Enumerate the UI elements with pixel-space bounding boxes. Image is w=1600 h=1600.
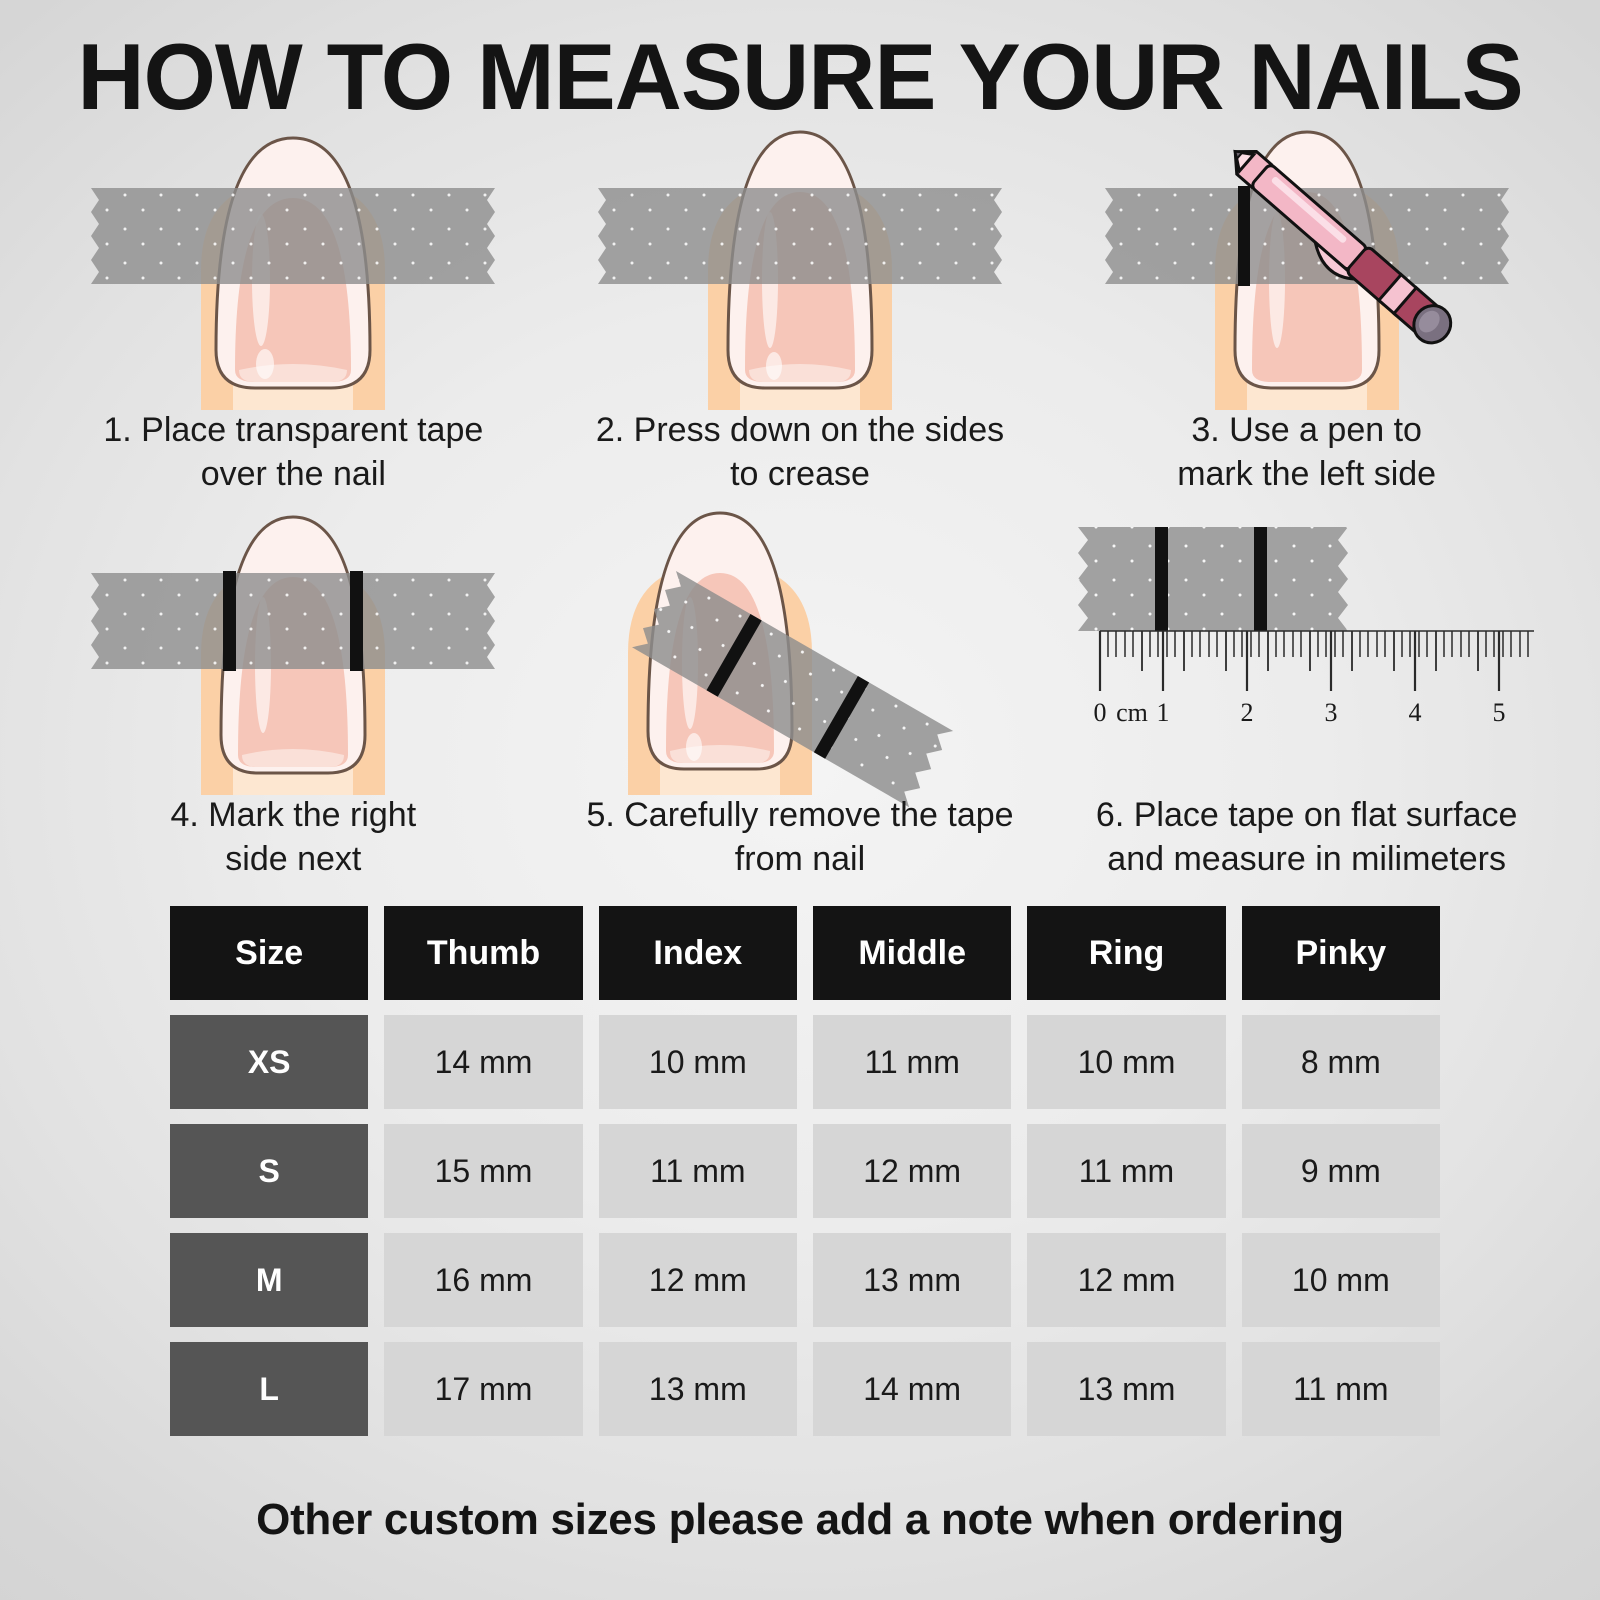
- left-mark: [1238, 186, 1250, 286]
- step-2-illustration: [547, 120, 1054, 410]
- table-cell: 13 mm: [813, 1233, 1011, 1327]
- table-header-thumb: Thumb: [384, 906, 582, 1000]
- tape-1: [91, 188, 495, 284]
- table-cell: 9 mm: [1242, 1124, 1440, 1218]
- table-row-size-label: XS: [170, 1015, 368, 1109]
- step-6-illustration: 0 cm 1 2 3 4 5: [1053, 505, 1560, 795]
- table-cell: 14 mm: [813, 1342, 1011, 1436]
- step-3-illustration: [1053, 120, 1560, 410]
- ruler-label-5: 5: [1492, 698, 1505, 727]
- table-cell: 12 mm: [813, 1124, 1011, 1218]
- table-header-size: Size: [170, 906, 368, 1000]
- step-2-caption: 2. Press down on the sidesto crease: [547, 408, 1054, 496]
- ruler-label-1: 1: [1156, 698, 1169, 727]
- table-cell: 14 mm: [384, 1015, 582, 1109]
- table-cell: 13 mm: [1027, 1342, 1225, 1436]
- table-row-size-label: S: [170, 1124, 368, 1218]
- step-5-caption: 5. Carefully remove the tapefrom nail: [547, 793, 1054, 881]
- table-cell: 16 mm: [384, 1233, 582, 1327]
- step-1-illustration: [40, 120, 547, 410]
- table-cell: 13 mm: [599, 1342, 797, 1436]
- ruler-label-4: 4: [1408, 698, 1421, 727]
- ruler-label-0: 0: [1093, 698, 1106, 727]
- step-3-caption: 3. Use a pen tomark the left side: [1053, 408, 1560, 496]
- step-5-illustration: [547, 505, 1054, 795]
- ruler-label-3: 3: [1324, 698, 1337, 727]
- table-header-index: Index: [599, 906, 797, 1000]
- table-cell: 17 mm: [384, 1342, 582, 1436]
- size-chart-table: Size Thumb Index Middle Ring Pinky XS 14…: [170, 906, 1440, 1436]
- ruler-icon: [1100, 631, 1534, 691]
- ruler-label-2: 2: [1240, 698, 1253, 727]
- table-cell: 10 mm: [599, 1015, 797, 1109]
- step-6: 0 cm 1 2 3 4 5 6. Place tape on flat sur…: [1053, 505, 1560, 890]
- steps-grid: 1. Place transparent tapeover the nail: [40, 120, 1560, 890]
- tape-4: [91, 573, 495, 669]
- step-4: 4. Mark the rightside next: [40, 505, 547, 890]
- table-cell: 10 mm: [1027, 1015, 1225, 1109]
- tape-6: [1078, 527, 1348, 631]
- table-row-size-label: M: [170, 1233, 368, 1327]
- left-mark: [1155, 527, 1168, 631]
- tape-2: [598, 188, 1002, 284]
- table-cell: 15 mm: [384, 1124, 582, 1218]
- step-2: 2. Press down on the sidesto crease: [547, 120, 1054, 505]
- ruler-label-cm: cm: [1116, 698, 1148, 727]
- table-cell: 11 mm: [599, 1124, 797, 1218]
- step-1-caption: 1. Place transparent tapeover the nail: [40, 408, 547, 496]
- step-1: 1. Place transparent tapeover the nail: [40, 120, 547, 505]
- table-row-size-label: L: [170, 1342, 368, 1436]
- step-4-caption: 4. Mark the rightside next: [40, 793, 547, 881]
- left-mark: [223, 571, 236, 671]
- page-title: HOW TO MEASURE YOUR NAILS: [8, 30, 1592, 124]
- right-mark: [350, 571, 363, 671]
- step-4-illustration: [40, 505, 547, 795]
- table-cell: 11 mm: [813, 1015, 1011, 1109]
- table-cell: 8 mm: [1242, 1015, 1440, 1109]
- right-mark: [1254, 527, 1267, 631]
- table-cell: 11 mm: [1027, 1124, 1225, 1218]
- table-header-ring: Ring: [1027, 906, 1225, 1000]
- table-cell: 12 mm: [599, 1233, 797, 1327]
- step-6-caption: 6. Place tape on flat surfaceand measure…: [1053, 793, 1560, 881]
- footnote-text: Other custom sizes please add a note whe…: [0, 1495, 1600, 1545]
- step-5: 5. Carefully remove the tapefrom nail: [547, 505, 1054, 890]
- table-cell: 10 mm: [1242, 1233, 1440, 1327]
- table-cell: 11 mm: [1242, 1342, 1440, 1436]
- table-header-middle: Middle: [813, 906, 1011, 1000]
- table-cell: 12 mm: [1027, 1233, 1225, 1327]
- table-header-pinky: Pinky: [1242, 906, 1440, 1000]
- step-3: 3. Use a pen tomark the left side: [1053, 120, 1560, 505]
